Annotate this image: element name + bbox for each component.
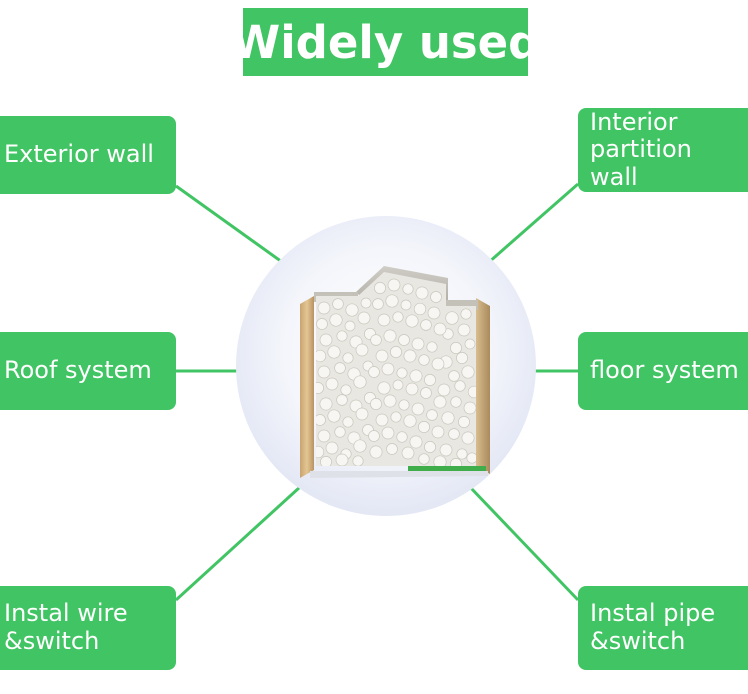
label-instal-wire-switch-text: Instal wire &switch	[4, 600, 128, 655]
label-roof-system-text: Roof system	[4, 357, 152, 385]
label-exterior-wall: Exterior wall	[0, 116, 176, 194]
label-instal-pipe-switch: Instal pipe &switch	[578, 586, 748, 670]
title-banner: Widely used	[243, 8, 528, 76]
label-floor-system: floor system	[578, 332, 748, 410]
label-instal-wire-switch: Instal wire &switch	[0, 586, 176, 670]
label-roof-system: Roof system	[0, 332, 176, 410]
center-product-photo	[236, 216, 536, 516]
label-interior-partition-wall-text: Interior partition wall	[590, 109, 744, 192]
sandwich-panel-illustration	[296, 252, 494, 478]
widely-used-infographic: Widely used Exterior wall Roof system In…	[0, 0, 748, 694]
label-exterior-wall-text: Exterior wall	[4, 141, 154, 169]
title-text: Widely used	[231, 20, 541, 65]
label-instal-pipe-switch-text: Instal pipe &switch	[590, 600, 715, 655]
label-floor-system-text: floor system	[590, 357, 739, 385]
label-interior-partition-wall: Interior partition wall	[578, 108, 748, 192]
